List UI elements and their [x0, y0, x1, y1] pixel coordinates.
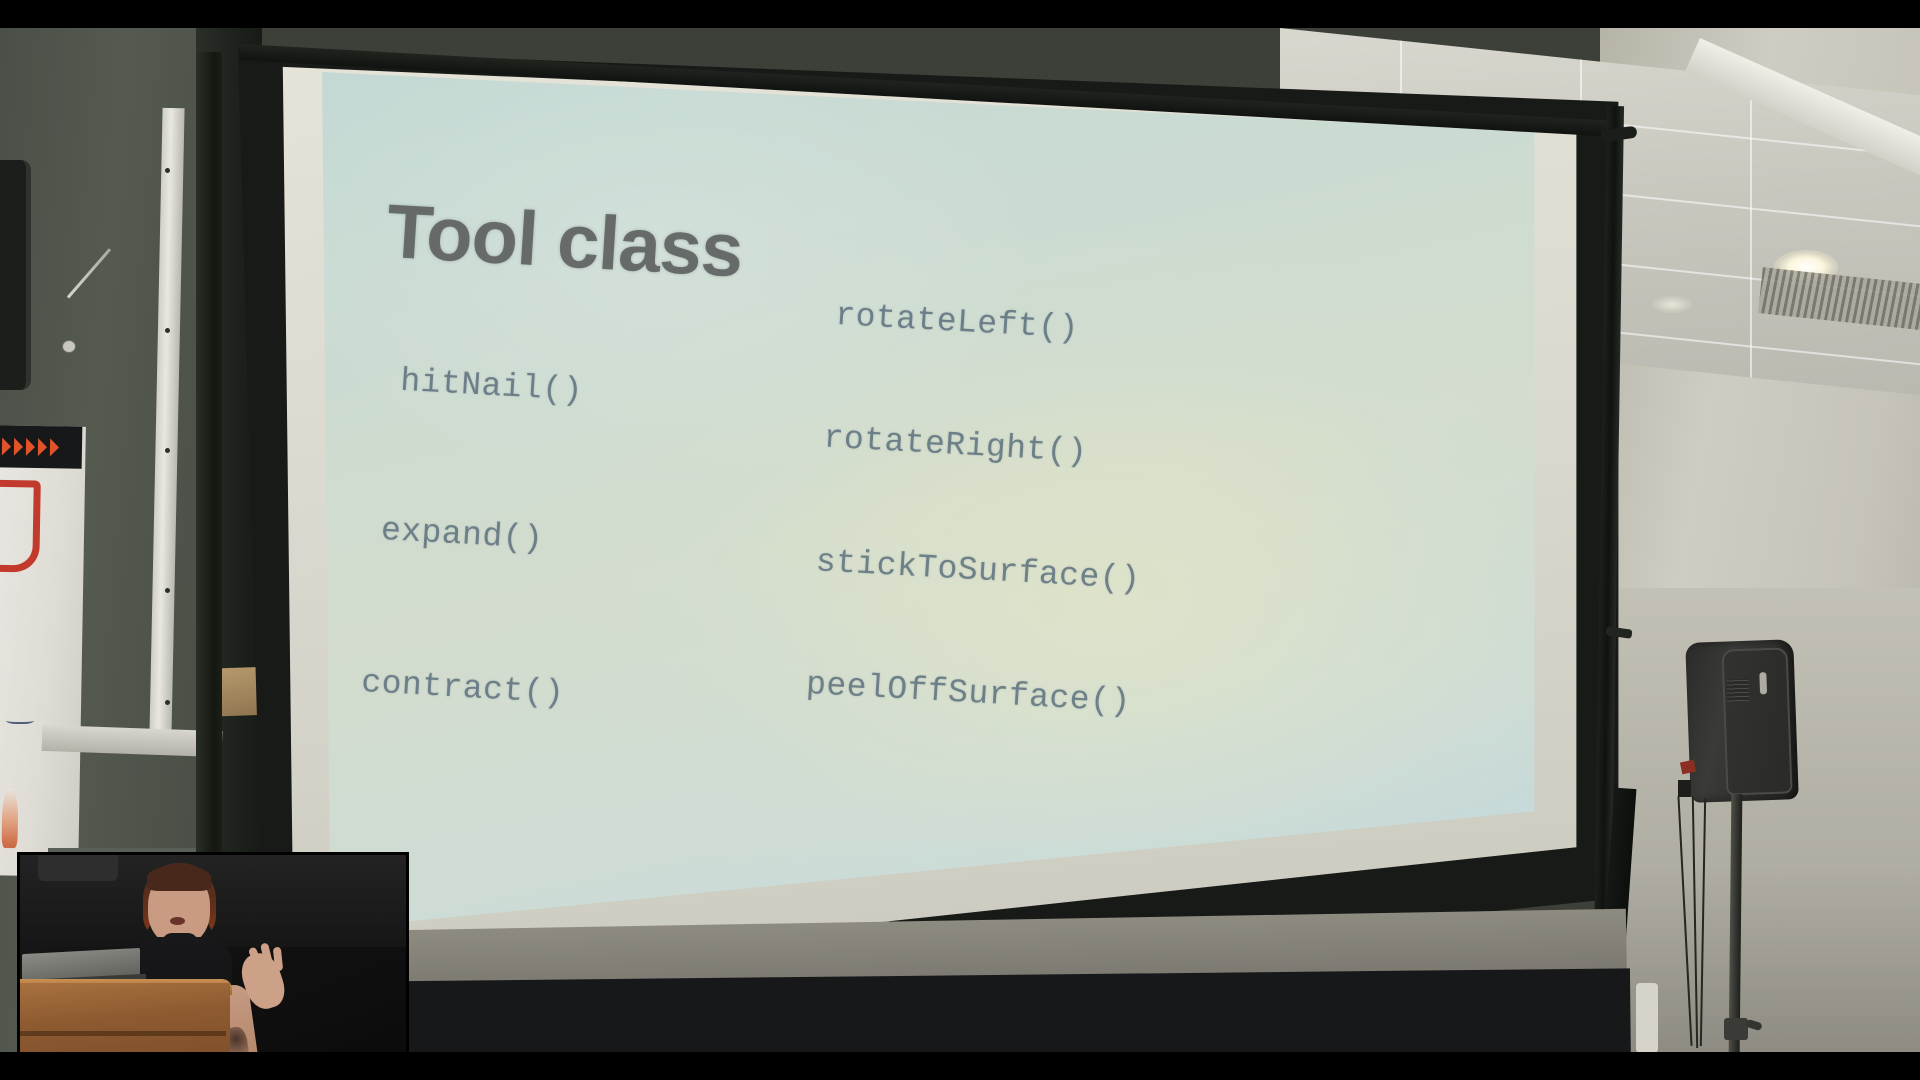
wall-monitor-edge — [0, 160, 31, 390]
projection-screen-assembly: Tool class hitNail() expand() contract()… — [238, 28, 1638, 1052]
podium-groove — [20, 1031, 226, 1036]
banner-rocket-icon — [1, 788, 18, 848]
banner-shield-icon — [0, 479, 41, 572]
presenter-fringe — [147, 865, 211, 891]
method-label-rotateleft: rotateLeft() — [834, 297, 1080, 348]
letterbox-top-bar — [0, 0, 1920, 28]
banner-scribble-text — [6, 716, 34, 724]
method-label-sticktosurface: stickToSurface() — [815, 543, 1142, 598]
pa-speaker-port — [1759, 672, 1767, 694]
pa-speaker-grill — [1727, 679, 1750, 702]
pa-speaker-face — [1721, 647, 1792, 795]
pa-speaker — [1685, 639, 1799, 803]
pointer-stick-knob — [62, 340, 76, 353]
ceiling-downlight-2 — [1652, 296, 1692, 313]
speaker-webcam-overlay[interactable] — [17, 852, 409, 1073]
slide-title: Tool class — [384, 188, 745, 295]
white-pipe — [1636, 983, 1658, 1052]
method-label-expand: expand() — [380, 512, 545, 558]
method-label-rotateright: rotateRight() — [823, 420, 1089, 472]
method-label-hitnail: hitNail() — [399, 363, 584, 410]
letterbox-bottom-bar — [0, 1052, 1920, 1080]
pa-speaker-stand-collar — [1724, 1018, 1748, 1040]
method-label-contract: contract() — [360, 664, 565, 712]
screen-recording-stage: Tool class hitNail() expand() contract()… — [0, 0, 1920, 1080]
cable-clip — [1678, 780, 1691, 797]
stage-dark-area — [230, 968, 1631, 1052]
banner-chevrons-icon — [2, 438, 59, 457]
presenter-mouth — [170, 917, 185, 925]
webcam-back-wall-object — [38, 855, 118, 881]
method-label-peeloffsurface: peelOffSurface() — [805, 666, 1132, 721]
